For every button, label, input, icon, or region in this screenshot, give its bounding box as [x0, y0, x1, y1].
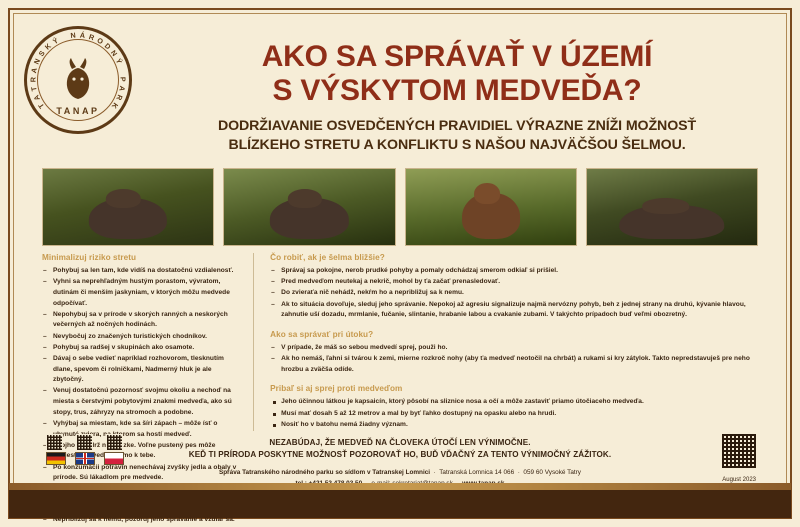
- logo-ring-char: T: [29, 86, 39, 92]
- logo-ring-char: A: [29, 66, 39, 73]
- list-item: Ak to situácia dovoľuje, sleduj jeho spr…: [270, 300, 758, 321]
- logo-ring-char: R: [114, 93, 124, 102]
- logo-ring-char: R: [28, 77, 37, 83]
- list-item: Jeho účinnou látkou je kapsaicín, ktorý …: [270, 397, 758, 408]
- photo-bear-cub: [405, 168, 577, 246]
- list-item: V prípade, že máš so sebou medvedí sprej…: [270, 343, 758, 354]
- photo-bear-meadow: [223, 168, 395, 246]
- column-left: Minimalizuj riziko stretuPohybuj sa len …: [42, 253, 254, 431]
- footer-dark-bar: [9, 490, 791, 518]
- bear-silhouette: [462, 193, 520, 239]
- logo-bottom-text: TANAP: [24, 106, 132, 116]
- logo-ring-char: O: [95, 36, 105, 47]
- logo-ring-char: Ý: [114, 57, 124, 65]
- list-item: Nevybočuj zo značených turistických chod…: [42, 332, 239, 343]
- section-list: V prípade, že máš so sebou medvedí sprej…: [270, 343, 758, 376]
- header-block: AKO SA SPRÁVAŤ V ÚZEMÍ S VÝSKYTOM MEDVEĎ…: [140, 40, 774, 155]
- subtitle-line-1: DODRŽIAVANIE OSVEDČENÝCH PRAVIDIEL VÝRAZ…: [140, 117, 774, 136]
- logo-ring-char: S: [37, 49, 47, 59]
- logo-ring-label: TATRANSKÝ NÁRODNÝ PARK: [24, 26, 132, 134]
- logo-ring-char: R: [88, 32, 96, 42]
- footer-note-line-1: NEZABÚDAJ, ŽE MEDVEĎ NA ČLOVEKA ÚTOČÍ LE…: [40, 437, 760, 449]
- footer-accent-bar: [9, 483, 791, 490]
- list-item: Nepohybuj sa v prírode v skorých ranných…: [42, 310, 239, 331]
- content-columns: Minimalizuj riziko stretuPohybuj sa len …: [42, 253, 758, 431]
- logo-ring-char: N: [70, 30, 76, 40]
- list-item: Do zvieraťa nič nehádž, nekŕm ho a nepri…: [270, 288, 758, 299]
- page-title: AKO SA SPRÁVAŤ V ÚZEMÍ S VÝSKYTOM MEDVEĎ…: [140, 40, 774, 108]
- bear-silhouette: [89, 198, 167, 239]
- list-item: Pred medveďom neutekaj a nekrič, mohol b…: [270, 277, 758, 288]
- section-heading: Čo robiť, ak je šelma bližšie?: [270, 253, 758, 262]
- logo-ring-char: N: [32, 57, 43, 66]
- photo-bear-close: [586, 168, 758, 246]
- logo-ring-char: D: [103, 41, 113, 51]
- logo-ring-char: P: [118, 77, 127, 82]
- list-item: Nosiť ho v batohu nemá žiadny význam.: [270, 420, 758, 431]
- logo-ring-char: K: [43, 41, 53, 51]
- list-item: Pohybuj sa len tam, kde vidíš na dostato…: [42, 266, 239, 277]
- logo-ring-char: A: [31, 93, 41, 102]
- footer-zip-city: 059 60 Vysoké Tatry: [523, 469, 581, 476]
- column-right: Čo robiť, ak je šelma bližšie?Správaj sa…: [254, 253, 758, 431]
- section-list: Jeho účinnou látkou je kapsaicín, ktorý …: [270, 397, 758, 430]
- list-item: Ak ho nemáš, ľahni si tvárou k zemi, mie…: [270, 354, 758, 375]
- logo-ring-char: Ý: [51, 36, 60, 46]
- bear-silhouette: [270, 198, 348, 239]
- section-heading: Minimalizuj riziko stretu: [42, 253, 239, 262]
- footer-org: Správa Tatranského národného parku so sí…: [219, 469, 430, 476]
- title-line-1: AKO SA SPRÁVAŤ V ÚZEMÍ: [140, 40, 774, 74]
- logo-ring-char: N: [109, 48, 120, 58]
- section-heading: Pribaľ si aj sprej proti medveďom: [270, 384, 758, 393]
- subtitle-line-2: BLÍZKEHO STRETU A KONFLIKTU S NAŠOU NAJV…: [140, 136, 774, 155]
- poster: TATRANSKÝ NÁRODNÝ PARK TANAP AKO SA SPRÁ…: [0, 0, 800, 527]
- logo-ring-char: Á: [79, 30, 85, 40]
- section-list: Správaj sa pokojne, nerob prudké pohyby …: [270, 266, 758, 321]
- title-line-2: S VÝSKYTOM MEDVEĎA?: [140, 74, 774, 108]
- list-item: Pohybuj sa radšej v skupinách ako osamot…: [42, 343, 239, 354]
- footer-contact-line-1: Správa Tatranského národného parku so sí…: [40, 468, 760, 479]
- list-item: Venuj dostatočnú pozornosť svojmu okoliu…: [42, 386, 239, 418]
- photo-bear-forest: [42, 168, 214, 246]
- list-item: Správaj sa pokojne, nerob prudké pohyby …: [270, 266, 758, 277]
- page-subtitle: DODRŽIAVANIE OSVEDČENÝCH PRAVIDIEL VÝRAZ…: [140, 117, 774, 155]
- section-heading: Ako sa správať pri útoku?: [270, 330, 758, 339]
- footer-note-line-2: KEĎ TI PRÍRODA POSKYTNE MOŽNOSŤ POZOROVA…: [40, 449, 760, 461]
- list-item: Dávaj o sebe vedieť napríklad rozhovorom…: [42, 354, 239, 386]
- tanap-logo: TATRANSKÝ NÁRODNÝ PARK TANAP: [24, 26, 132, 134]
- footer-note: NEZABÚDAJ, ŽE MEDVEĎ NA ČLOVEKA ÚTOČÍ LE…: [40, 437, 760, 461]
- footer-address: Tatranská Lomnica 14 066: [439, 469, 514, 476]
- list-item: Vyhni sa neprehľadným hustým porastom, v…: [42, 277, 239, 309]
- photo-strip: [42, 168, 758, 246]
- bear-silhouette: [619, 205, 725, 238]
- logo-ring-char: A: [117, 85, 127, 92]
- list-item: Musí mať dosah 5 až 12 metrov a mal by b…: [270, 409, 758, 420]
